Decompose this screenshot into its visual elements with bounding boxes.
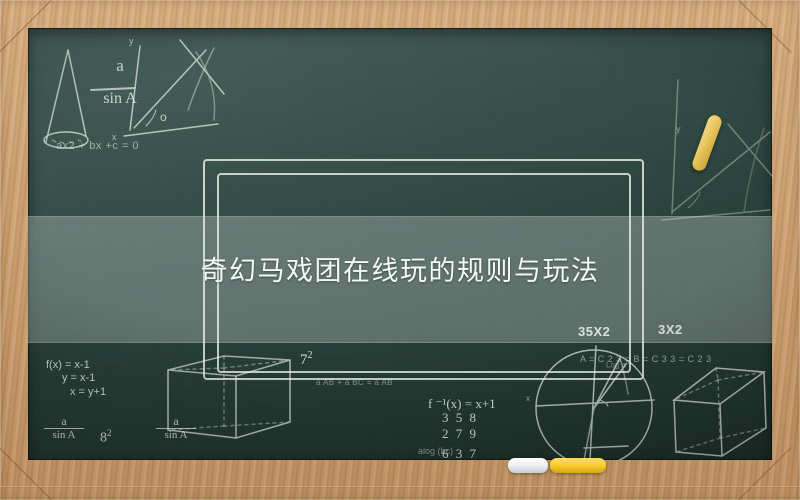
white-chalk-stick-tray	[508, 458, 548, 473]
board-vignette	[28, 28, 772, 460]
yellow-chalk-stick-tray	[550, 458, 606, 473]
blackboard-banner: a sin A y x o ax2 + bx +c = 0 y 35X2 3X2…	[0, 0, 800, 500]
blackboard-surface: a sin A y x o ax2 + bx +c = 0 y 35X2 3X2…	[28, 28, 772, 460]
frame-bottom-lip	[0, 486, 800, 488]
